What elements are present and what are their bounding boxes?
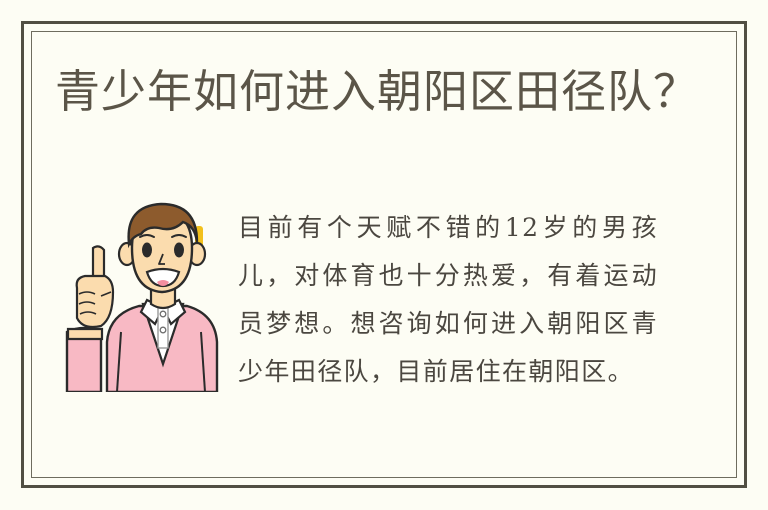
sleeve-cuff: [68, 329, 102, 339]
eye-right: [174, 243, 184, 258]
pointing-boy-illustration: [55, 192, 230, 392]
shirt-button: [160, 311, 166, 317]
page-root: 青少年如何进入朝阳区田径队？: [0, 0, 768, 510]
pointing-hand: [77, 246, 113, 327]
content-area: 目前有个天赋不错的12岁的男孩儿，对体育也十分热爱，有着运动员梦想。想咨询如何进…: [55, 192, 675, 452]
page-title: 青少年如何进入朝阳区田径队？: [55, 64, 699, 120]
shirt-button: [160, 327, 166, 333]
eye-left: [142, 243, 152, 258]
article-body-text: 目前有个天赋不错的12岁的男孩儿，对体育也十分热爱，有着运动员梦想。想咨询如何进…: [238, 204, 658, 396]
